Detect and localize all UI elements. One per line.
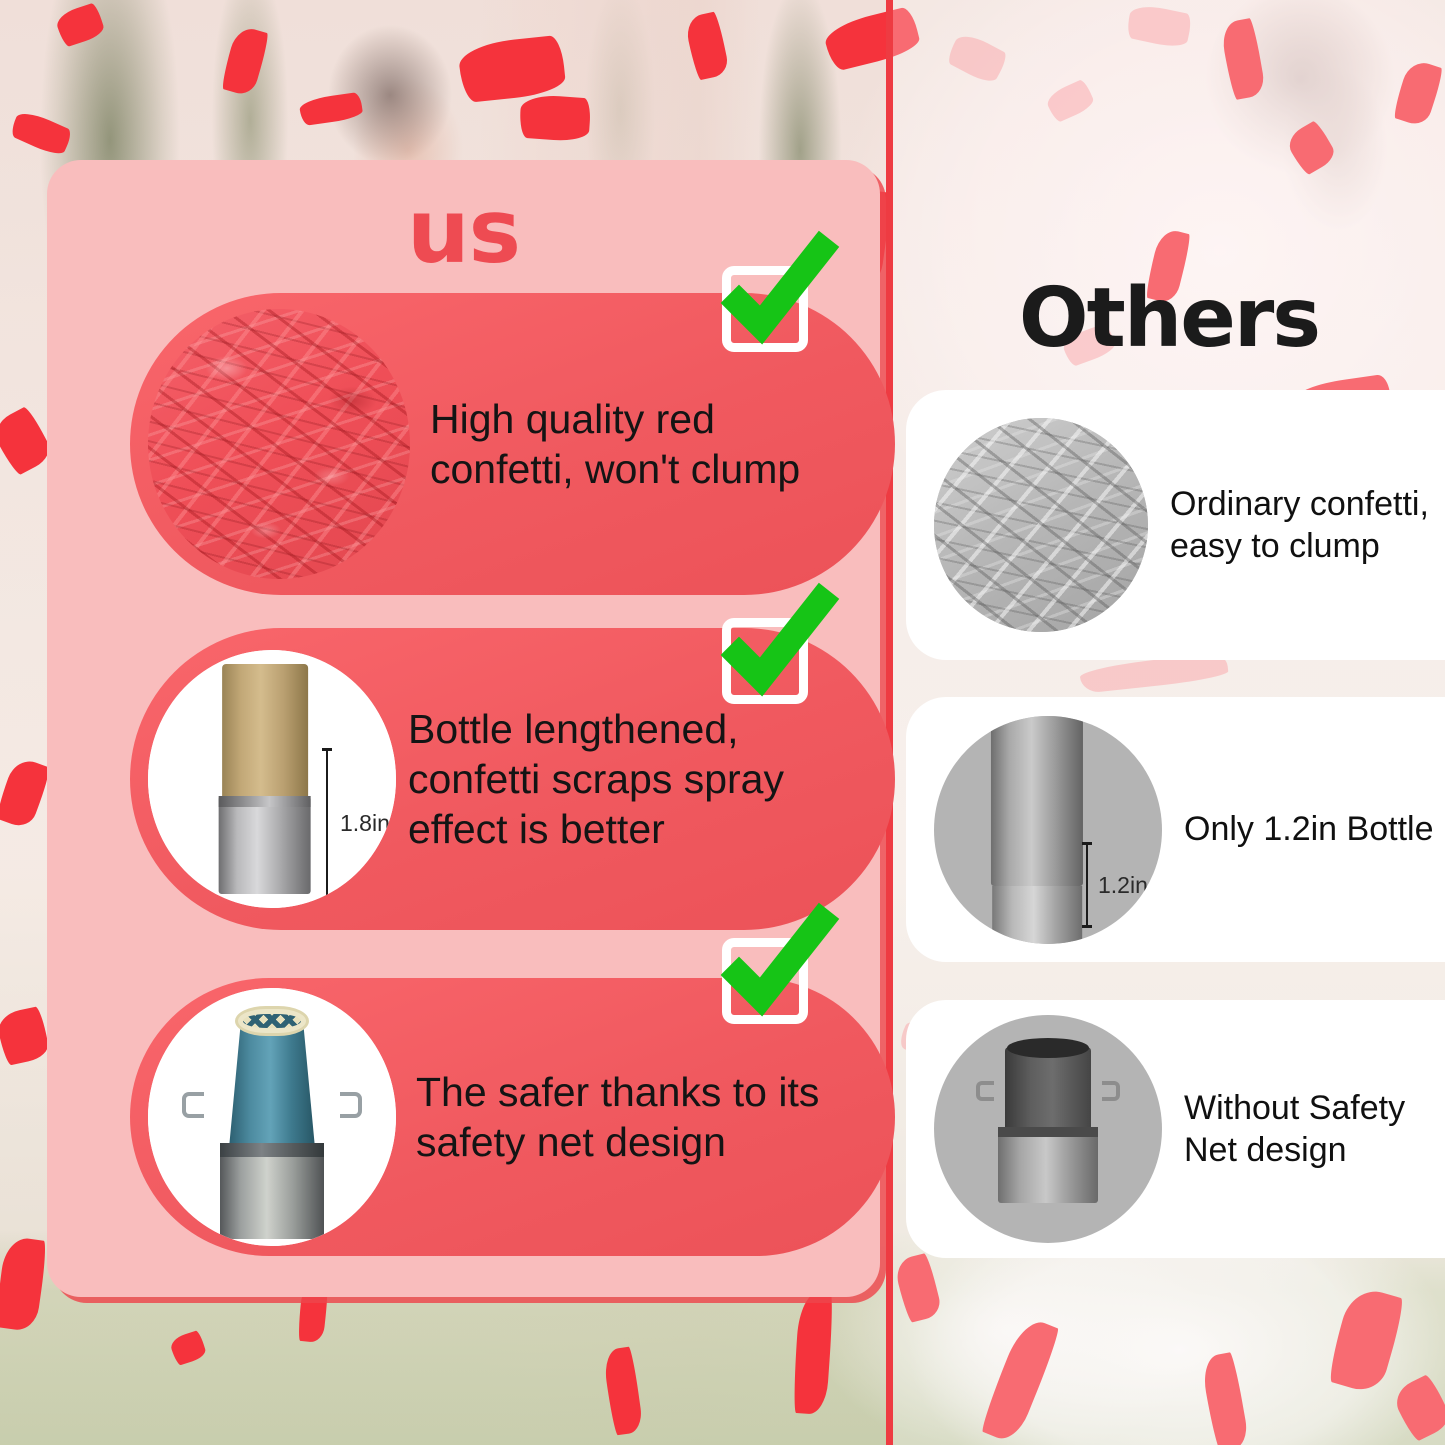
- green-check-icon: [709, 231, 839, 361]
- us-row-label: The safer thanks to its safety net desig…: [396, 1067, 895, 1167]
- green-check-icon: [709, 583, 839, 713]
- measure-label: 1.2in: [1098, 872, 1148, 899]
- others-row-label: Ordinary confetti, easy to clump: [1148, 483, 1445, 568]
- us-row-label: High quality red confetti, won't clump: [410, 394, 895, 494]
- confetti-piece: [519, 94, 592, 143]
- others-column-title: Others: [893, 278, 1445, 360]
- lengthened-bottle-thumbnail: 1.8in: [148, 650, 396, 908]
- others-row-confetti[interactable]: Ordinary confetti, easy to clump: [906, 390, 1445, 660]
- others-row-label: Only 1.2in Bottle: [1162, 808, 1445, 851]
- measure-label: 1.8in: [340, 810, 390, 837]
- infographic-canvas: Others Ordinary confetti, easy to clump …: [0, 0, 1445, 1445]
- others-row-safety[interactable]: Without Safety Net design: [906, 1000, 1445, 1258]
- gray-cannon-thumbnail: [934, 1015, 1162, 1243]
- safety-net-cannon-thumbnail: [148, 988, 396, 1246]
- us-row-label: Bottle lengthened, confetti scraps spray…: [396, 704, 895, 854]
- measure-line: [326, 748, 328, 900]
- measure-line: [1086, 842, 1088, 928]
- gray-confetti-thumbnail: [934, 418, 1148, 632]
- green-check-box-3: [722, 938, 808, 1024]
- green-check-box-2: [722, 618, 808, 704]
- green-check-box-1: [722, 266, 808, 352]
- others-row-label: Without Safety Net design: [1162, 1087, 1445, 1172]
- gray-bottle-thumbnail: 1.2in: [934, 716, 1162, 944]
- green-check-icon: [709, 903, 839, 1033]
- others-row-bottle[interactable]: 1.2in Only 1.2in Bottle: [906, 697, 1445, 962]
- red-confetti-thumbnail: [148, 309, 410, 579]
